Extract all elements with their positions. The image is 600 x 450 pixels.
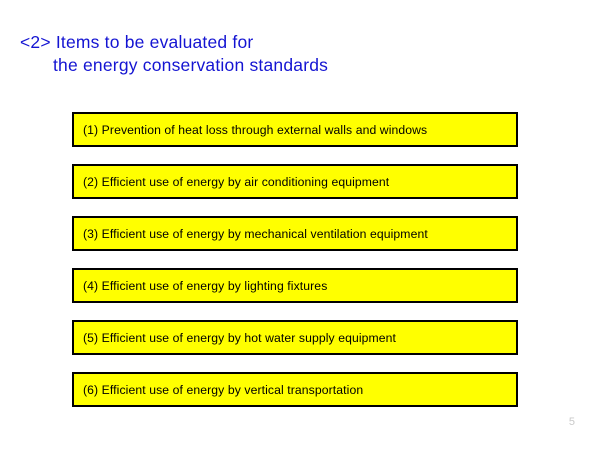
list-item-label: (4) Efficient use of energy by lighting … [83,279,327,293]
list-item-label: (1) Prevention of heat loss through exte… [83,123,427,137]
page-title: <2> Items to be evaluated for the energy… [20,31,560,77]
list-item[interactable]: (1) Prevention of heat loss through exte… [72,112,518,147]
page-title-line-2: the energy conservation standards [20,54,560,77]
page-title-line-1: <2> Items to be evaluated for [20,31,560,54]
list-item[interactable]: (6) Efficient use of energy by vertical … [72,372,518,407]
page-number: 5 [569,416,575,428]
list-item[interactable]: (4) Efficient use of energy by lighting … [72,268,518,303]
list-item[interactable]: (2) Efficient use of energy by air condi… [72,164,518,199]
slide-canvas: <2> Items to be evaluated for the energy… [0,0,600,450]
list-item[interactable]: (3) Efficient use of energy by mechanica… [72,216,518,251]
evaluated-items-list: (1) Prevention of heat loss through exte… [72,112,518,424]
list-item-label: (3) Efficient use of energy by mechanica… [83,227,428,241]
list-item-label: (2) Efficient use of energy by air condi… [83,175,389,189]
list-item-label: (6) Efficient use of energy by vertical … [83,383,363,397]
list-item-label: (5) Efficient use of energy by hot water… [83,331,396,345]
list-item[interactable]: (5) Efficient use of energy by hot water… [72,320,518,355]
